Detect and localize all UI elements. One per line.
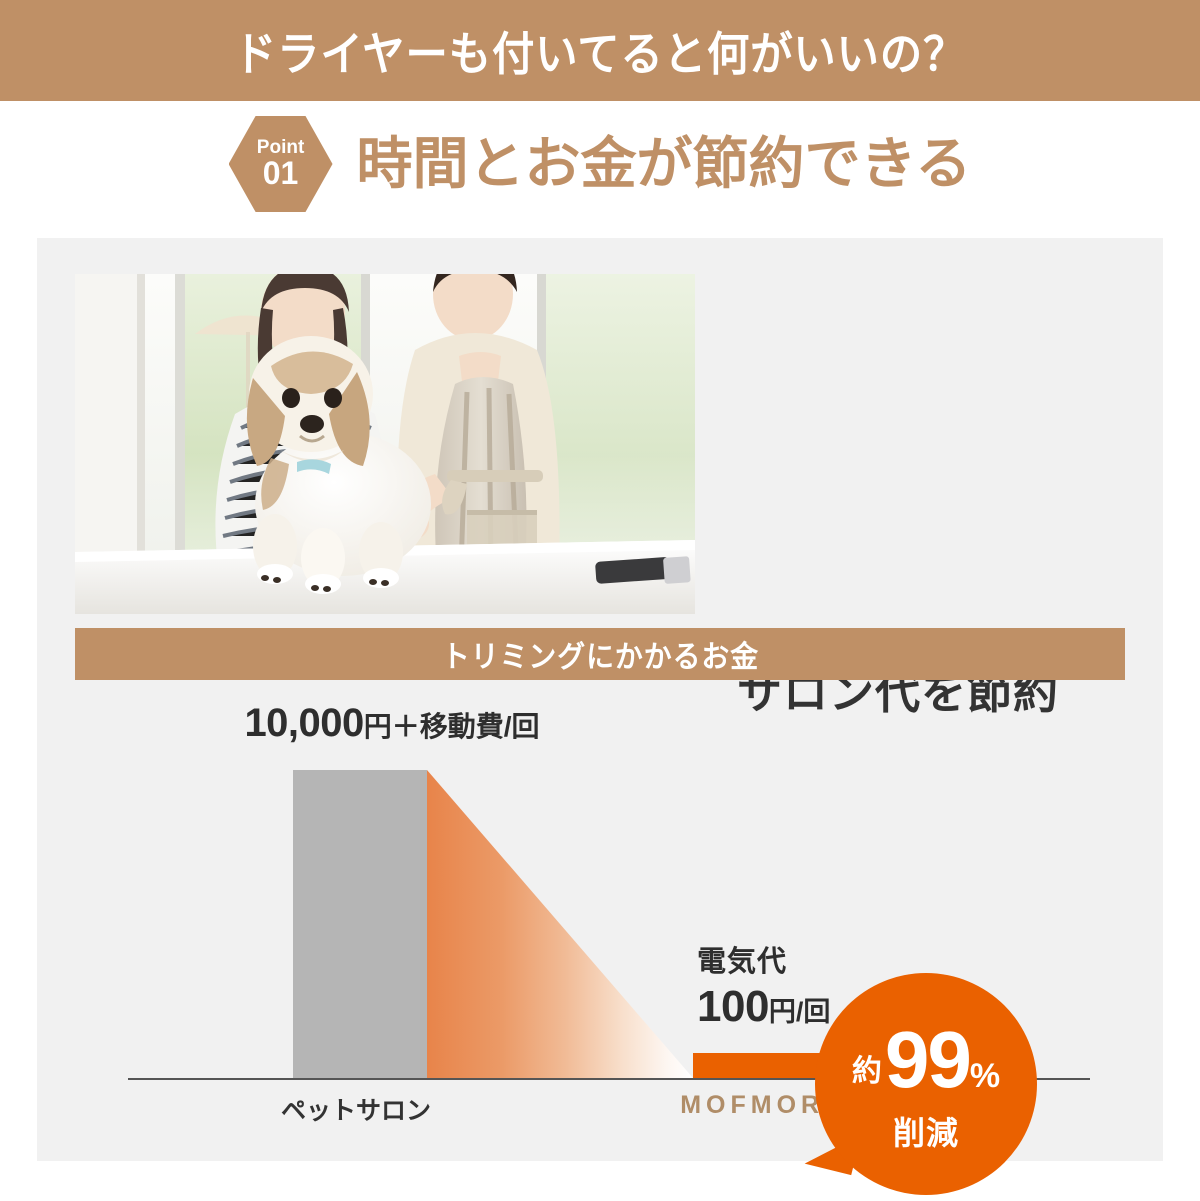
mofmore-value-unit: 円/回 — [769, 997, 831, 1027]
point-badge-label: Point — [257, 138, 305, 157]
cost-reduction-wedge — [427, 770, 693, 1078]
reduction-number: 99 — [885, 1020, 970, 1100]
bar-mofmore — [693, 1053, 833, 1078]
category-label-pet-salon: ペットサロン — [281, 1091, 415, 1127]
point-badge-number: 01 — [263, 157, 299, 191]
salon-value-unit: 円＋移動費/回 — [364, 711, 540, 742]
point-heading-text: 時間とお金が節約できる — [357, 136, 972, 192]
salon-value-label: 10,000円＋移動費/回 — [227, 701, 557, 746]
point-heading-row: Point 01 時間とお金が節約できる — [0, 108, 1200, 220]
chart-title-bar: トリミングにかかるお金 — [75, 628, 1125, 680]
salon-value-number: 10,000 — [244, 701, 363, 745]
photo-illustration — [75, 274, 695, 614]
reduction-percent-sign: % — [970, 1059, 1000, 1093]
banner-title: ドライヤーも付いてると何がいいの？ — [234, 18, 967, 84]
header-banner: ドライヤーも付いてると何がいいの？ — [0, 0, 1200, 101]
mofmore-value-label: 電気代 100円/回 — [697, 938, 830, 1032]
content-card: サロン代を節約 トリミングにかかるお金 10,000円＋移動費/回 電気代 10… — [37, 238, 1163, 1161]
mofmore-cost-type: 電気代 — [697, 938, 830, 980]
page-root: ドライヤーも付いてると何がいいの？ Point 01 時間とお金が節約できる — [0, 0, 1200, 1201]
reduction-main-line: 約 99 % — [852, 1020, 1000, 1100]
reduction-speech-bubble: 約 99 % 削減 — [815, 973, 1037, 1195]
reduction-sub-label: 削減 — [893, 1108, 959, 1154]
bar-pet-salon — [293, 770, 427, 1078]
reduction-prefix: 約 — [852, 1057, 882, 1087]
point-badge: Point 01 — [229, 116, 333, 212]
chart-title-text: トリミングにかかるお金 — [441, 632, 758, 676]
mofmore-value-number: 100 — [697, 982, 769, 1031]
grooming-salon-photo — [75, 274, 695, 614]
